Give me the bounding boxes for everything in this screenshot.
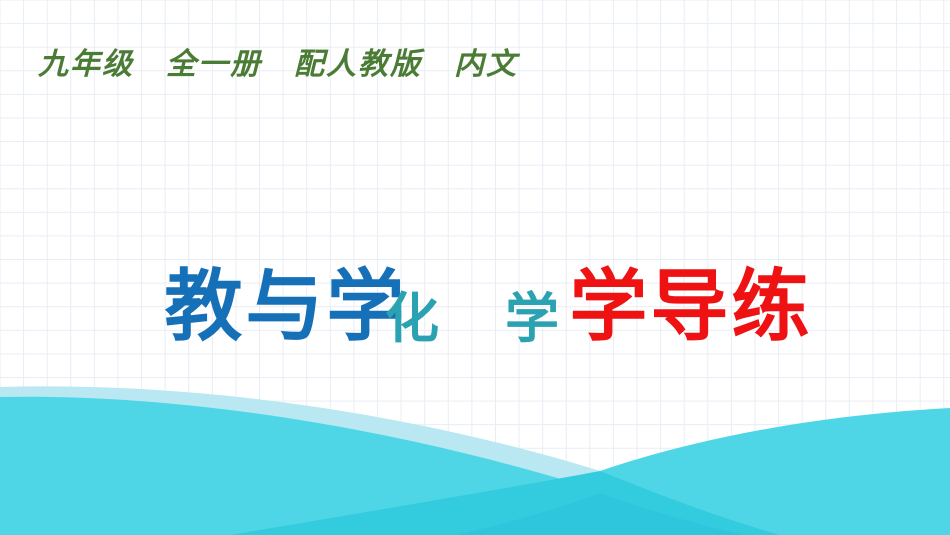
slide-canvas: 九年级 全一册 配人教版 内文 教与学 学导练 化 学 [0, 0, 950, 535]
subject-title: 化 学 [0, 288, 950, 350]
text-layer: 九年级 全一册 配人教版 内文 教与学 学导练 化 学 [0, 0, 950, 535]
series-subtitle: 九年级 全一册 配人教版 内文 [38, 46, 518, 84]
